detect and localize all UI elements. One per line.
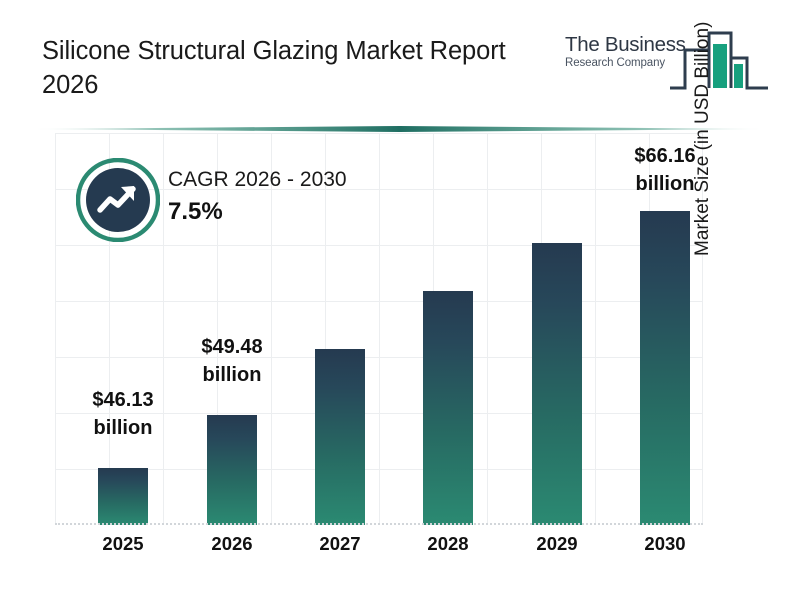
value-label-2026-unit: billion	[162, 361, 302, 389]
gridline-vertical	[55, 133, 56, 523]
x-axis-baseline	[55, 523, 703, 525]
bar-chart-logo-mark	[669, 28, 769, 94]
value-label-2026-amount: $49.48	[162, 333, 302, 361]
value-label-2025: $46.13 billion	[53, 386, 193, 442]
value-label-2030-unit: billion	[595, 170, 735, 198]
bar-2029[interactable]	[532, 243, 582, 525]
value-label-2030-amount: $66.16	[595, 142, 735, 170]
value-label-2025-unit: billion	[53, 414, 193, 442]
x-tick-2030: 2030	[605, 533, 725, 555]
x-tick-2027: 2027	[280, 533, 400, 555]
value-label-2030: $66.16 billion	[595, 142, 735, 198]
company-logo: The Business Research Company	[565, 28, 770, 98]
x-tick-2025: 2025	[63, 533, 183, 555]
cagr-period-label: CAGR 2026 - 2030	[168, 166, 448, 194]
x-tick-2029: 2029	[497, 533, 617, 555]
cagr-callout: CAGR 2026 - 2030 7.5%	[168, 166, 448, 228]
y-axis-title: Market Size (in USD Billion)	[692, 0, 714, 256]
bar-2027[interactable]	[315, 349, 365, 525]
x-tick-2026: 2026	[172, 533, 292, 555]
value-label-2025-amount: $46.13	[53, 386, 193, 414]
header-divider	[32, 120, 768, 128]
page-title: Silicone Structural Glazing Market Repor…	[42, 34, 562, 102]
cagr-badge-icon	[76, 158, 160, 242]
cagr-value: 7.5%	[168, 196, 448, 228]
chart-canvas: Silicone Structural Glazing Market Repor…	[0, 0, 800, 600]
bar-2025[interactable]	[98, 468, 148, 525]
bar-2026[interactable]	[207, 415, 257, 525]
gridline-vertical	[487, 133, 488, 523]
bar-2030[interactable]	[640, 211, 690, 525]
bar-2028[interactable]	[423, 291, 473, 525]
x-tick-2028: 2028	[388, 533, 508, 555]
value-label-2026: $49.48 billion	[162, 333, 302, 389]
gridline-vertical	[163, 133, 164, 523]
header: Silicone Structural Glazing Market Repor…	[0, 0, 800, 118]
